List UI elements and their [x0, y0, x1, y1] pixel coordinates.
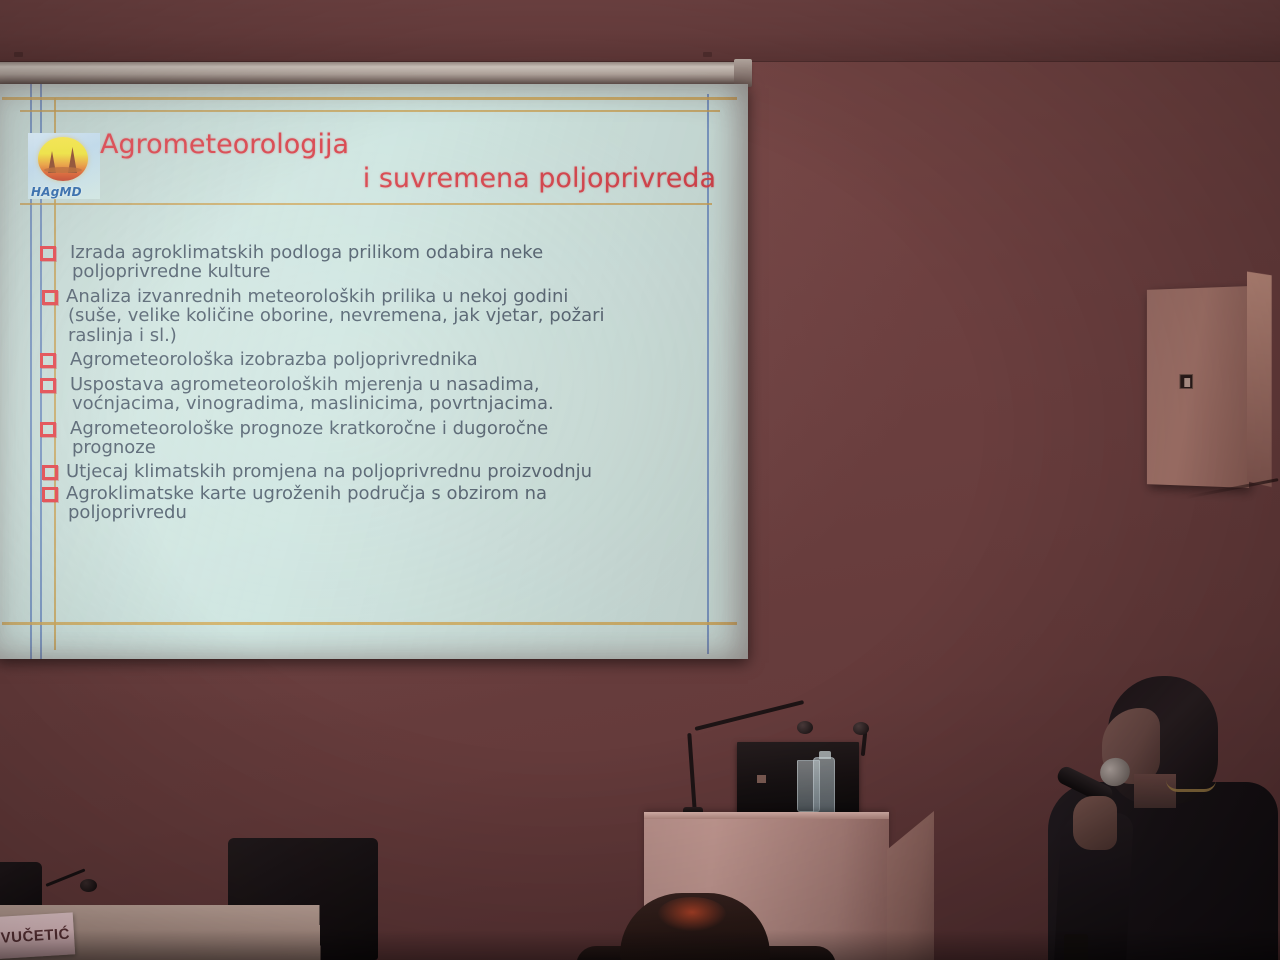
bullet-line-1: Izrada agroklimatskih podloga prilikom o…	[70, 243, 730, 262]
hagmd-logo: HAgMD	[28, 133, 100, 199]
lectern-top-edge	[644, 812, 889, 819]
ceiling-bracket-left	[14, 52, 23, 57]
slide-title-line1: Agrometeorologija	[100, 129, 349, 160]
slide-bullet-item: Utjecaj klimatskih promjena na poljopriv…	[40, 462, 730, 481]
slide-bullet-item: Agrometeorološka izobrazba poljoprivredn…	[40, 350, 730, 369]
slide-bullet-item: Analiza izvanrednih meteoroloških prilik…	[40, 287, 730, 345]
checkbox-bullet-icon	[42, 487, 58, 502]
speaker-brand-badge	[1179, 374, 1193, 389]
speaker-side-panel	[1247, 272, 1272, 488]
podium-mic-head-left	[797, 721, 813, 734]
nameplate: VUČETIĆ	[0, 912, 75, 959]
monitor-logo	[757, 775, 766, 783]
bullet-line-2: prognoze	[70, 438, 730, 457]
bullet-line-2: voćnjacima, vinogradima, maslinicima, po…	[70, 394, 730, 413]
checkbox-bullet-icon	[40, 246, 56, 261]
checkbox-bullet-icon	[40, 353, 56, 368]
bullet-line-1: Utjecaj klimatskih promjena na poljopriv…	[66, 462, 730, 481]
bullet-line-2: poljoprivredne kulture	[70, 262, 730, 281]
slide-bullet-item: Uspostava agrometeoroloških mjerenja u n…	[40, 375, 730, 414]
slide-bullet-item: Agroklimatske karte ugroženih područja s…	[40, 484, 730, 523]
podium-mic-head-right	[853, 722, 869, 735]
audience-head-highlight	[658, 897, 726, 931]
checkbox-bullet-icon	[42, 465, 58, 480]
bullet-line-3: raslinja i sl.)	[66, 326, 730, 345]
presenter-hand	[1073, 796, 1117, 850]
bullet-line-1: Agrometeorološke prognoze kratkoročne i …	[70, 419, 730, 438]
checkbox-bullet-icon	[40, 378, 56, 393]
presenter-necklace	[1166, 780, 1216, 792]
logo-horizon	[44, 167, 82, 173]
checkbox-bullet-icon	[40, 422, 56, 437]
ceiling-band	[0, 0, 1280, 62]
sun-icon	[38, 137, 88, 181]
table-mic-head	[80, 879, 97, 892]
wall-speaker	[1147, 286, 1249, 488]
slide-bullet-item: Izrada agroklimatskih podloga prilikom o…	[40, 243, 730, 282]
slide-title-divider	[20, 203, 712, 205]
bullet-line-2: poljoprivredu	[66, 503, 730, 522]
presenter	[1038, 672, 1280, 960]
roller-end-cap	[734, 59, 752, 87]
slide-border-gold-bottom	[2, 622, 737, 625]
logo-brand-text: HAgMD	[31, 185, 103, 199]
bullet-line-1: Analiza izvanrednih meteoroloških prilik…	[66, 287, 730, 306]
bullet-line-1: Uspostava agrometeoroloških mjerenja u n…	[70, 375, 730, 394]
slide-border-gold-top-2	[20, 110, 720, 112]
slide-title: Agrometeorologija i suvremena poljoprivr…	[100, 128, 720, 196]
presenter-remote	[1064, 934, 1088, 960]
checkbox-bullet-icon	[42, 290, 58, 305]
bullet-line-2: (suše, velike količine oborine, nevremen…	[66, 306, 730, 325]
slide-border-gold-top-1	[2, 97, 737, 100]
slide-bullet-item: Agrometeorološke prognoze kratkoročne i …	[40, 419, 730, 458]
bullet-line-1: Agrometeorološka izobrazba poljoprivredn…	[70, 350, 730, 369]
nameplate-text: VUČETIĆ	[0, 925, 70, 946]
bottle-cap	[819, 751, 831, 759]
water-bottle	[813, 757, 835, 815]
photo-scene: HAgMD Agrometeorologija i suvremena polj…	[0, 0, 1280, 960]
bullet-line-1: Agroklimatske karte ugroženih područja s…	[66, 484, 730, 503]
slide-title-line2: i suvremena poljoprivreda	[100, 162, 720, 196]
ceiling-bracket-right	[703, 52, 712, 57]
slide-bullet-list: Izrada agroklimatskih podloga prilikom o…	[40, 243, 730, 528]
projector-screen-roller	[0, 62, 750, 84]
